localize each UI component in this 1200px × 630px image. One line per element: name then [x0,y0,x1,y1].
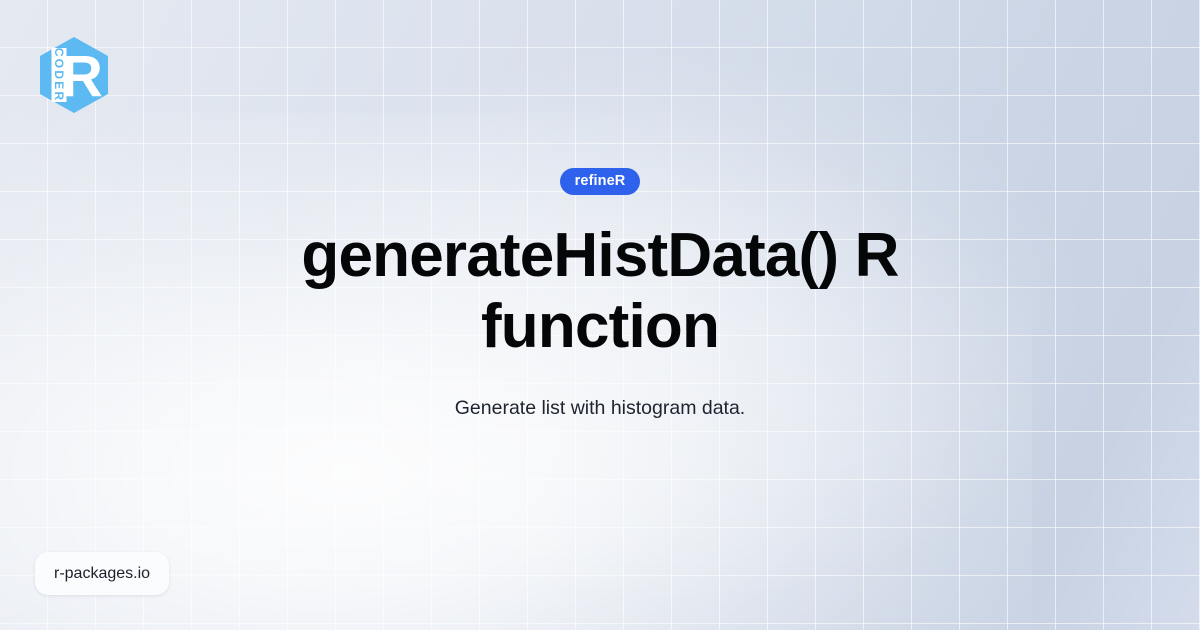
hero-content: refineR generateHistData() R function Ge… [0,168,1200,423]
r-coder-hexagon-logo[interactable]: CODER R [38,36,110,114]
page-title-line-2: function [481,292,719,361]
site-domain-badge[interactable]: r-packages.io [35,552,169,595]
svg-text:R: R [61,45,103,110]
package-badge[interactable]: refineR [560,168,641,195]
page-title-line-1: generateHistData() R [301,221,898,290]
page-title: generateHistData() R function [220,221,980,362]
page-subtitle: Generate list with histogram data. [190,395,1010,422]
